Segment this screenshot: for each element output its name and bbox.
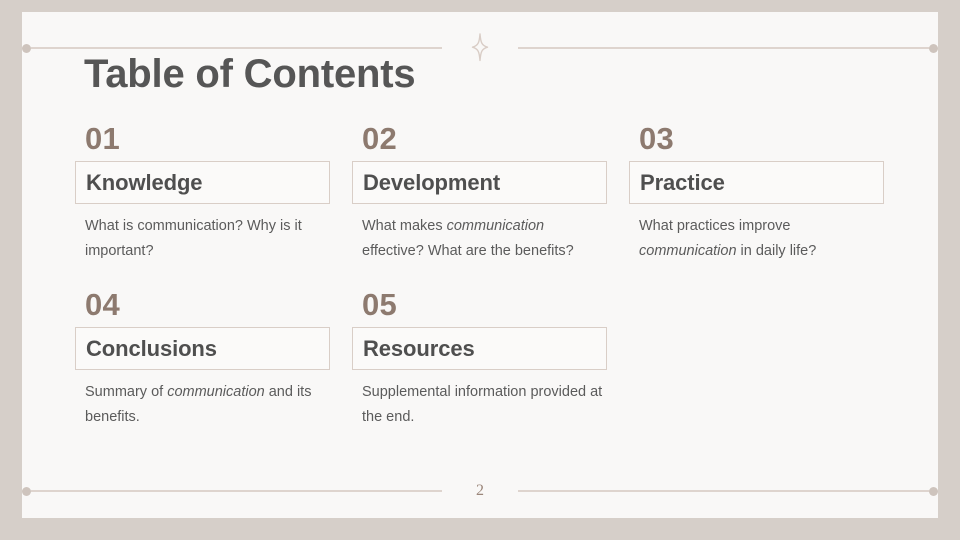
- slide-card: Table of Contents 01KnowledgeWhat is com…: [22, 12, 938, 518]
- emphasis-text: communication: [639, 243, 737, 259]
- toc-item[interactable]: 04ConclusionsSummary of communication an…: [75, 286, 352, 430]
- toc-item[interactable]: 02DevelopmentWhat makes communication ef…: [352, 120, 629, 264]
- footer-center: 2: [442, 479, 518, 503]
- toc-item-box[interactable]: Practice: [629, 161, 884, 204]
- page-number: 2: [476, 483, 484, 499]
- toc-item-description: What practices improve communication in …: [629, 214, 884, 264]
- four-point-star-icon: [465, 33, 495, 63]
- grid-empty-cell: [629, 286, 906, 452]
- table-of-contents-grid: 01KnowledgeWhat is communication? Why is…: [75, 120, 915, 452]
- toc-item-box[interactable]: Resources: [352, 327, 607, 370]
- toc-item-description: What makes communication effective? What…: [352, 214, 607, 264]
- header-left-line: [31, 47, 442, 49]
- toc-item-box[interactable]: Conclusions: [75, 327, 330, 370]
- plain-text: What makes: [362, 218, 447, 234]
- header-center-ornament: [442, 36, 518, 60]
- toc-item-label: Conclusions: [86, 336, 217, 362]
- plain-text: Summary of: [85, 384, 167, 400]
- toc-item-number: 04: [75, 286, 330, 323]
- toc-item[interactable]: 03PracticeWhat practices improve communi…: [629, 120, 906, 264]
- toc-item-label: Resources: [363, 336, 475, 362]
- header-left-dot: [22, 44, 31, 53]
- toc-item-number: 05: [352, 286, 607, 323]
- toc-item[interactable]: 01KnowledgeWhat is communication? Why is…: [75, 120, 352, 264]
- toc-item-label: Knowledge: [86, 170, 202, 196]
- toc-item-label: Practice: [640, 170, 725, 196]
- footer-ornament-bar: 2: [22, 479, 938, 503]
- plain-text: in daily life?: [737, 243, 817, 259]
- emphasis-text: communication: [167, 384, 265, 400]
- emphasis-text: communication: [447, 218, 545, 234]
- toc-item-box[interactable]: Knowledge: [75, 161, 330, 204]
- toc-item-box[interactable]: Development: [352, 161, 607, 204]
- toc-item-number: 03: [629, 120, 884, 157]
- toc-item[interactable]: 05ResourcesSupplemental information prov…: [352, 286, 629, 430]
- footer-left-line: [31, 490, 442, 492]
- toc-item-description: Supplemental information provided at the…: [352, 380, 607, 430]
- toc-item-description: Summary of communication and its benefit…: [75, 380, 330, 430]
- slide-canvas: Table of Contents 01KnowledgeWhat is com…: [0, 0, 960, 540]
- footer-right-line: [518, 490, 929, 492]
- plain-text: What practices improve: [639, 218, 791, 234]
- header-right-dot: [929, 44, 938, 53]
- plain-text: Supplemental information provided at the…: [362, 384, 602, 425]
- header-right-line: [518, 47, 929, 49]
- plain-text: effective? What are the benefits?: [362, 243, 574, 259]
- toc-item-label: Development: [363, 170, 500, 196]
- toc-item-number: 01: [75, 120, 330, 157]
- toc-item-description: What is communication? Why is it importa…: [75, 214, 330, 264]
- toc-item-number: 02: [352, 120, 607, 157]
- footer-left-dot: [22, 487, 31, 496]
- page-title: Table of Contents: [84, 52, 415, 96]
- footer-right-dot: [929, 487, 938, 496]
- plain-text: What is communication? Why is it importa…: [85, 218, 302, 259]
